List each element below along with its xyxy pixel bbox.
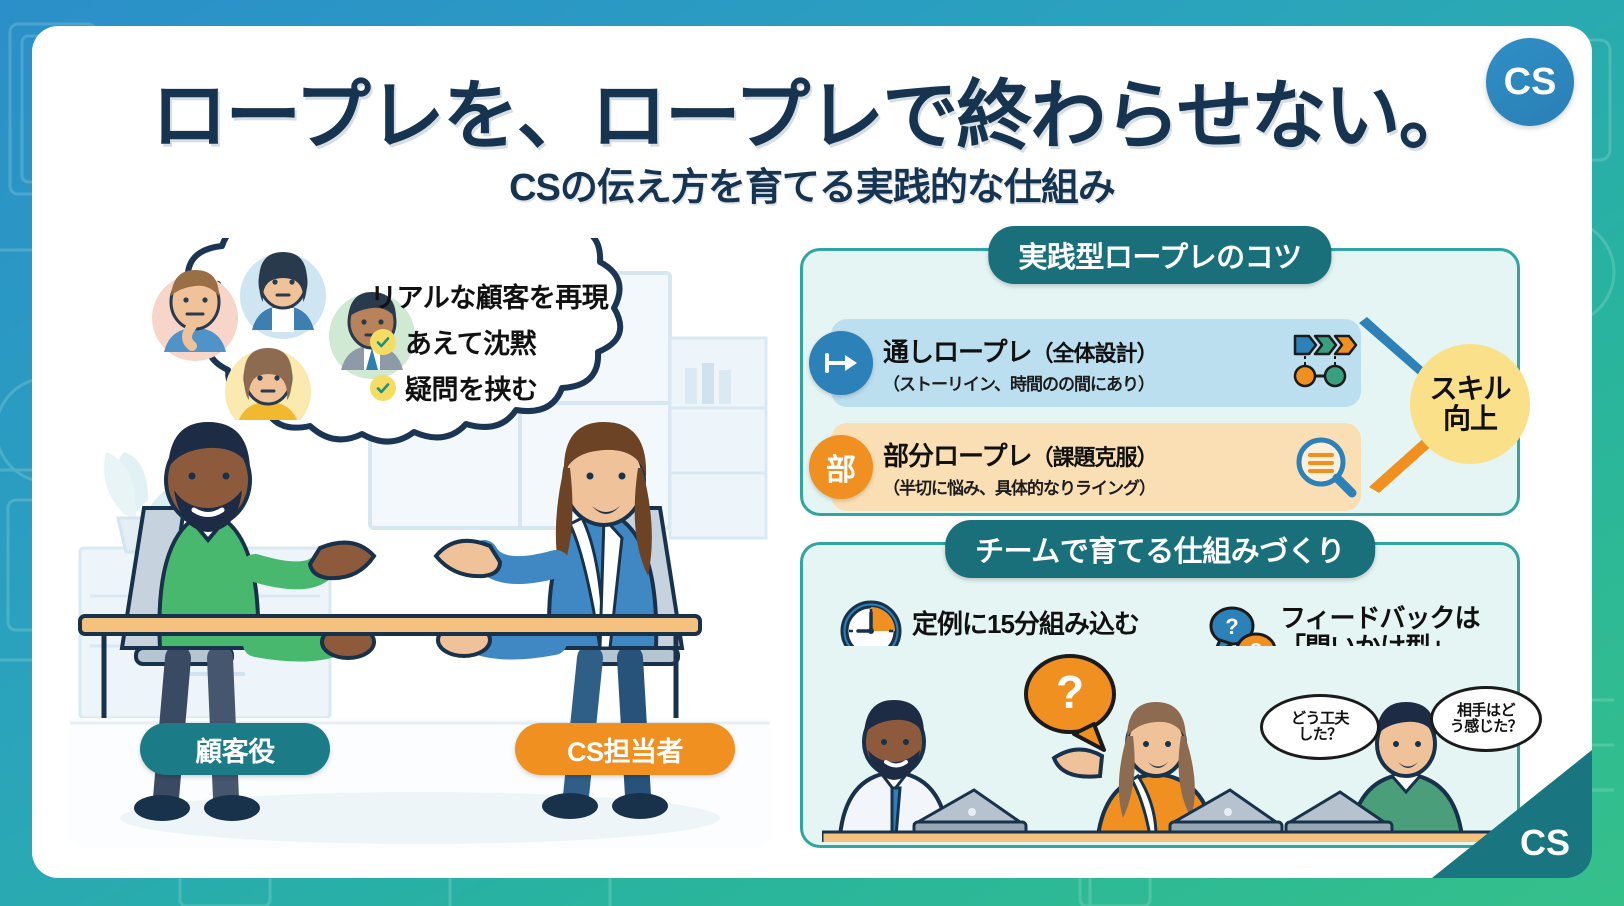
- tip-sub-full: （ストーリイン、時間のの間にあり）: [883, 370, 1291, 395]
- team-text-cadence: 定例に15分組み込む: [912, 604, 1139, 641]
- bubble-item-label: 疑問を挟む: [405, 368, 538, 407]
- main-card: ロープレを、ロープレで終わらせない。 CSの伝え方を育てる実践的な仕組み: [32, 26, 1592, 878]
- svg-text:?: ?: [1056, 666, 1084, 718]
- cs-logo-bottom: CS: [1520, 822, 1570, 864]
- tip-title-partial: 部分ロープレ（課題克服）: [883, 436, 1291, 473]
- svg-text:?: ?: [1225, 614, 1238, 639]
- tip-title-full: 通しロープレ（全体設計）: [883, 332, 1291, 369]
- skill-line-2: 向上: [1443, 404, 1497, 434]
- panel-team-header: チームで育てる仕組みづくり: [945, 520, 1375, 578]
- infographic-canvas: ロープレを、ロープレで終わらせない。 CSの伝え方を育てる実践的な仕組み: [0, 0, 1624, 906]
- tip-title-part: 通し: [883, 337, 933, 367]
- page-title: ロープレを、ロープレで終わらせない。: [32, 54, 1592, 164]
- panel-roleplay-tips: 実践型ロープレのコツ 通しロープレ（全体設計） （ストーリイン、時間のの間にあり…: [800, 248, 1520, 516]
- mini-bubble-question-2: 相手はど う感じた？: [1430, 686, 1542, 752]
- mini-bubble-question-1: どう工夫 した？: [1260, 694, 1380, 760]
- cs-logo-top: CS: [1486, 38, 1574, 126]
- role-label-cs: CS担当者: [515, 723, 735, 775]
- bubble-text-group: リアルな顧客を再現 あえて沈黙 疑問を挟む: [370, 276, 608, 407]
- bubble-item: あえて沈黙: [370, 322, 608, 361]
- bubble-heading: リアルな顧客を再現: [370, 276, 608, 315]
- tip-title-part: 部分: [883, 441, 933, 471]
- role-label-customer: 顧客役: [140, 723, 330, 775]
- magnifier-icon: [1291, 436, 1361, 498]
- tip-title-paren: （全体設計）: [1031, 341, 1157, 366]
- tip-title-mid: ロープレ: [933, 337, 1031, 367]
- page-subtitle: CSの伝え方を育てる実践的な仕組み: [32, 156, 1592, 211]
- tip-title-mid: ロープレ: [933, 441, 1031, 471]
- roleplay-illustration: リアルな顧客を再現 あえて沈黙 疑問を挟む 顧客役 CS担当者: [70, 218, 770, 848]
- tip-row-partial-roleplay: 部 部分ロープレ（課題克服） （半切に悩み、具体的なりライング）: [831, 423, 1361, 511]
- check-icon: [370, 375, 396, 401]
- skill-line-1: スキル: [1429, 374, 1510, 404]
- tip-row-full-roleplay: 通しロープレ（全体設計） （ストーリイン、時間のの間にあり）: [831, 319, 1361, 407]
- bubble-item-label: あえて沈黙: [405, 322, 536, 361]
- check-icon: [370, 329, 396, 355]
- flow-diagram-icon: [1291, 332, 1361, 394]
- full-range-icon: [809, 331, 873, 395]
- feedback-line-1: フィードバックは: [1280, 604, 1479, 633]
- tip-text-group: 部分ロープレ（課題克服） （半切に悩み、具体的なりライング）: [883, 436, 1291, 499]
- panel-tips-header: 実践型ロープレのコツ: [988, 226, 1331, 284]
- partial-icon: 部: [809, 435, 873, 499]
- tip-sub-partial: （半切に悩み、具体的なりライング）: [883, 474, 1291, 499]
- bubble-item: 疑問を挟む: [370, 368, 608, 407]
- tip-title-paren: （課題克服）: [1031, 445, 1157, 470]
- tip-text-group: 通しロープレ（全体設計） （ストーリイン、時間のの間にあり）: [883, 332, 1291, 395]
- skill-outcome-badge: スキル 向上: [1410, 344, 1530, 464]
